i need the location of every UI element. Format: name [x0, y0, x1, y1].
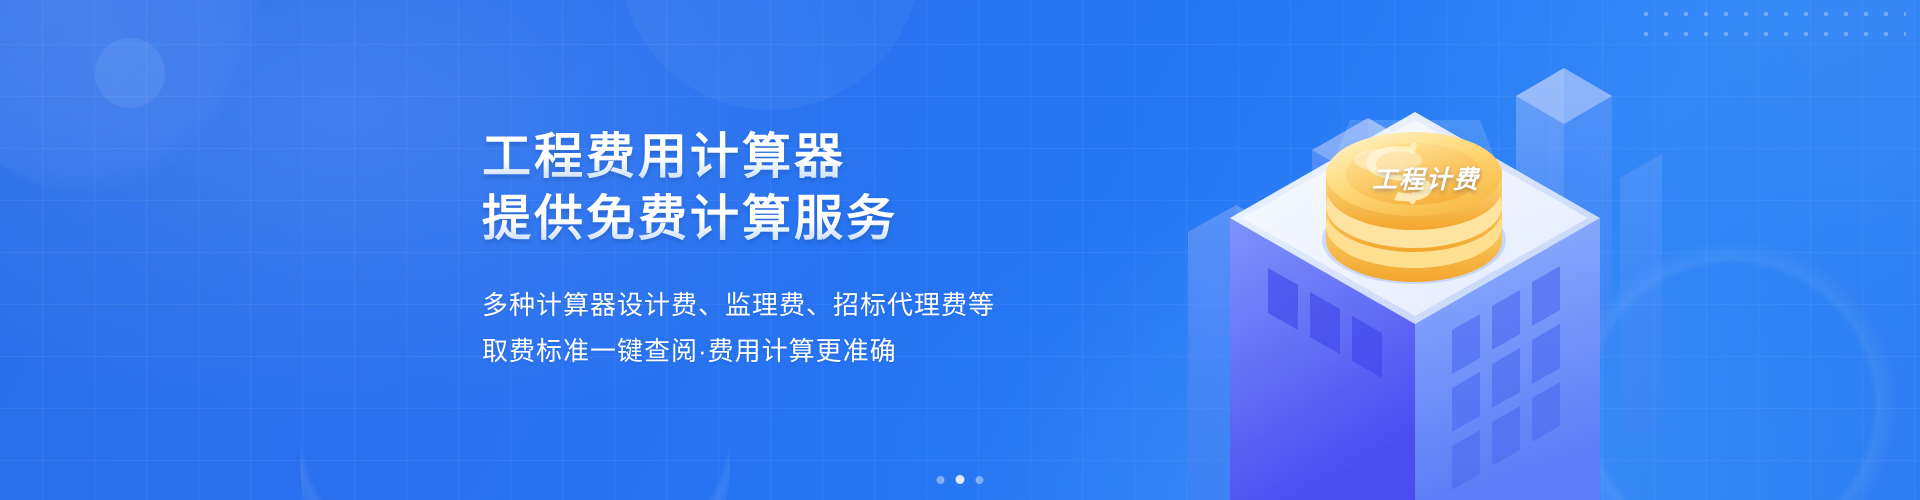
carousel-dot-2[interactable] — [956, 475, 965, 484]
carousel-indicators[interactable] — [937, 475, 984, 484]
banner-subtitle-line-1: 多种计算器设计费、监理费、招标代理费等 — [482, 282, 1142, 328]
gold-coin-stack — [1322, 132, 1506, 284]
carousel-dot-3[interactable] — [976, 476, 984, 484]
illustration-label: 工程计费 — [1372, 160, 1480, 196]
isometric-illustration: 工程计费 — [1080, 0, 1720, 500]
decorative-circle-bubble — [95, 38, 165, 108]
banner-subtitle-line-2: 取费标准一键查阅·费用计算更准确 — [482, 328, 1142, 374]
carousel-dot-1[interactable] — [937, 476, 945, 484]
banner-subtitle: 多种计算器设计费、监理费、招标代理费等 取费标准一键查阅·费用计算更准确 — [482, 282, 1142, 374]
banner-title-line-1: 工程费用计算器 — [482, 126, 1142, 188]
banner-copy: 工程费用计算器 提供免费计算服务 多种计算器设计费、监理费、招标代理费等 取费标… — [482, 126, 1142, 374]
banner-title-line-2: 提供免费计算服务 — [482, 188, 1142, 250]
illustration-svg — [1080, 0, 1720, 500]
hero-banner: 工程费用计算器 提供免费计算服务 多种计算器设计费、监理费、招标代理费等 取费标… — [0, 0, 1920, 500]
